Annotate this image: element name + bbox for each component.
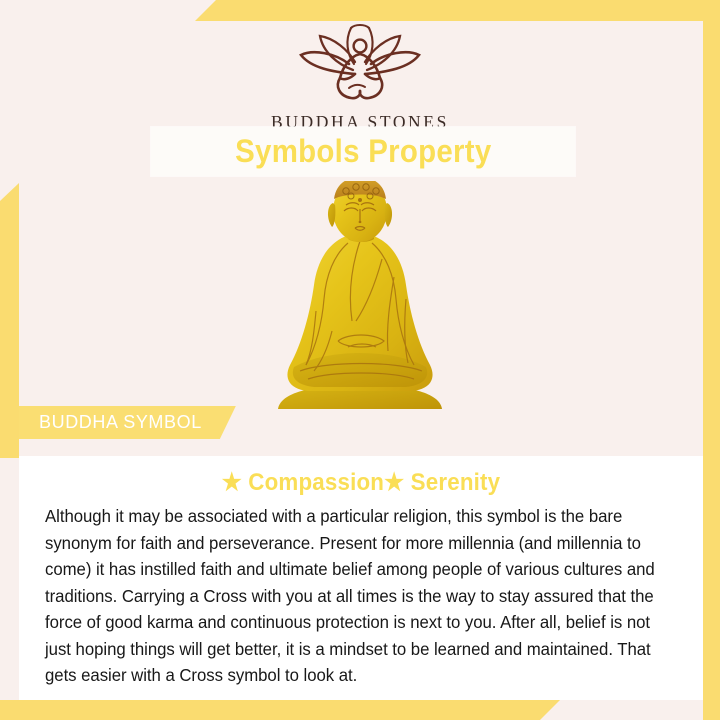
category-tag-label: BUDDHA SYMBOL — [39, 412, 202, 433]
content-subtitle: ★ Compassion★ Serenity — [67, 468, 655, 497]
hero-image-container — [0, 178, 720, 413]
content-paragraph: Although it may be associated with a par… — [45, 503, 655, 689]
page-title: Symbols Property — [235, 133, 491, 170]
decor-top-right-bar — [195, 0, 720, 21]
lotus-meditation-icon — [285, 22, 435, 106]
title-banner: Symbols Property — [151, 127, 575, 176]
decor-bottom-left-bar — [0, 700, 560, 720]
category-tag: BUDDHA SYMBOL — [19, 406, 236, 439]
brand-header: BUDDHA STONES — [0, 22, 720, 133]
golden-seated-buddha-statue-image — [256, 181, 464, 413]
content-card: ★ Compassion★ Serenity Although it may b… — [19, 456, 703, 700]
poster-canvas: BUDDHA STONES Symbols Property — [0, 0, 720, 720]
